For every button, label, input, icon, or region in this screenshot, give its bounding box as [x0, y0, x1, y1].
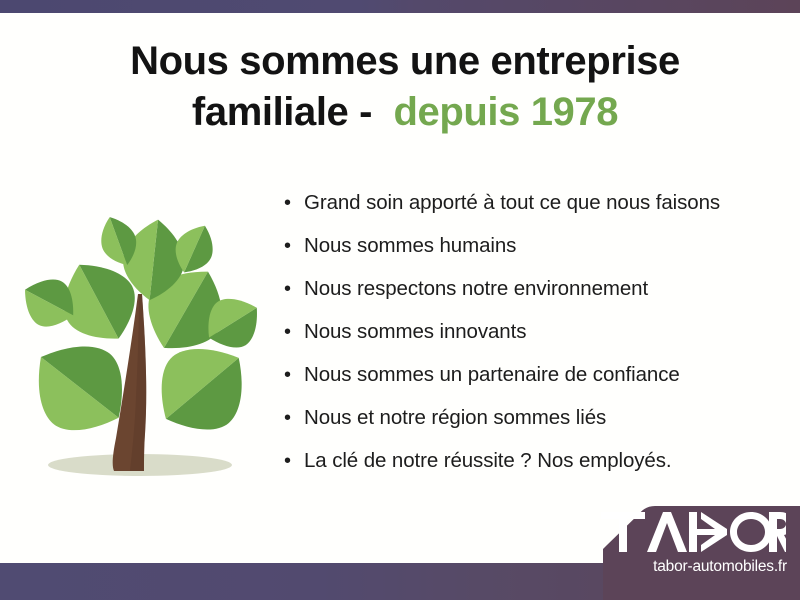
slide-canvas: Nous sommes une entreprise familiale - d… — [0, 0, 800, 600]
value-bullet-list: • Grand soin apporté à tout ce que nous … — [284, 193, 784, 494]
bullet-icon: • — [284, 408, 304, 428]
page-title-line-2-plain: familiale - — [192, 90, 394, 134]
list-item: • Nous sommes humains — [284, 236, 784, 279]
list-item: • Nous sommes un partenaire de confiance — [284, 365, 784, 408]
list-item: • La clé de notre réussite ? Nos employé… — [284, 451, 784, 494]
logo-website-url: tabor-automobiles.fr — [601, 558, 787, 576]
top-accent-band — [0, 0, 800, 13]
list-item: • Nous sommes innovants — [284, 322, 784, 365]
list-item-label: Nous sommes un partenaire de confiance — [304, 365, 680, 386]
bullet-icon: • — [284, 279, 304, 299]
bullet-icon: • — [284, 236, 304, 256]
list-item-label: Nous sommes humains — [304, 236, 516, 257]
list-item: • Nous et notre région sommes liés — [284, 408, 784, 451]
page-title-line-2: familiale - depuis 1978 — [60, 87, 750, 138]
list-item-label: Nous respectons notre environnement — [304, 279, 648, 300]
list-item-label: Nous sommes innovants — [304, 322, 526, 343]
list-item: • Nous respectons notre environnement — [284, 279, 784, 322]
list-item-label: Nous et notre région sommes liés — [304, 408, 606, 429]
bullet-icon: • — [284, 193, 304, 213]
list-item: • Grand soin apporté à tout ce que nous … — [284, 193, 784, 236]
list-item-label: La clé de notre réussite ? Nos employés. — [304, 451, 671, 472]
bullet-icon: • — [284, 322, 304, 342]
list-item-label: Grand soin apporté à tout ce que nous fa… — [304, 193, 720, 214]
bullet-icon: • — [284, 365, 304, 385]
page-title-line-1: Nous sommes une entreprise — [60, 36, 750, 87]
page-title: Nous sommes une entreprise familiale - d… — [60, 36, 750, 138]
tabor-logo — [601, 512, 786, 552]
bullet-icon: • — [284, 451, 304, 471]
page-title-accent: depuis 1978 — [393, 90, 618, 134]
tree-illustration — [12, 190, 277, 490]
